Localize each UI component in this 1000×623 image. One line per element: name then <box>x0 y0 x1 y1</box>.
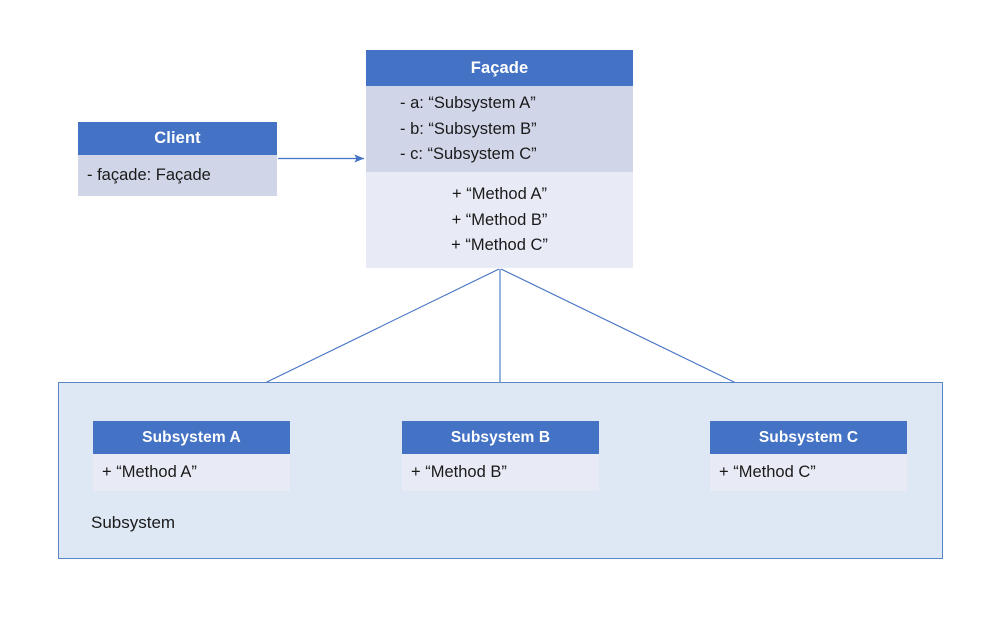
class-operations-subsystem-c: + “Method C” <box>710 454 907 491</box>
attribute-row: - a: “Subsystem A” <box>400 91 633 117</box>
class-attributes-facade: - a: “Subsystem A” - b: “Subsystem B” - … <box>366 86 633 172</box>
class-title-subsystem-a: Subsystem A <box>93 421 290 454</box>
operation-row: + “Method B” <box>411 464 599 481</box>
operation-row: + “Method C” <box>719 464 907 481</box>
class-operations-subsystem-b: + “Method B” <box>402 454 599 491</box>
operation-row: + “Method A” <box>452 182 547 208</box>
attribute-row: - façade: Façade <box>87 167 277 184</box>
class-box-subsystem-a[interactable]: Subsystem A + “Method A” <box>93 421 290 491</box>
operation-row: + “Method B” <box>452 207 548 233</box>
class-box-client[interactable]: Client - façade: Façade <box>78 122 277 196</box>
class-operations-subsystem-a: + “Method A” <box>93 454 290 491</box>
subsystem-group-label: Subsystem <box>91 513 175 533</box>
class-box-facade[interactable]: Façade - a: “Subsystem A” - b: “Subsyste… <box>366 50 633 268</box>
class-title-client: Client <box>78 122 277 155</box>
class-title-facade: Façade <box>366 50 633 86</box>
operation-row: + “Method C” <box>451 233 548 259</box>
class-title-subsystem-b: Subsystem B <box>402 421 599 454</box>
class-attributes-client: - façade: Façade <box>78 155 277 196</box>
operation-row: + “Method A” <box>102 464 290 481</box>
attribute-row: - c: “Subsystem C” <box>400 142 633 168</box>
class-box-subsystem-b[interactable]: Subsystem B + “Method B” <box>402 421 599 491</box>
attribute-row: - b: “Subsystem B” <box>400 116 633 142</box>
diagram-canvas: Client - façade: Façade Façade - a: “Sub… <box>0 0 1000 623</box>
class-title-subsystem-c: Subsystem C <box>710 421 907 454</box>
class-box-subsystem-c[interactable]: Subsystem C + “Method C” <box>710 421 907 491</box>
class-operations-facade: + “Method A” + “Method B” + “Method C” <box>366 172 633 268</box>
